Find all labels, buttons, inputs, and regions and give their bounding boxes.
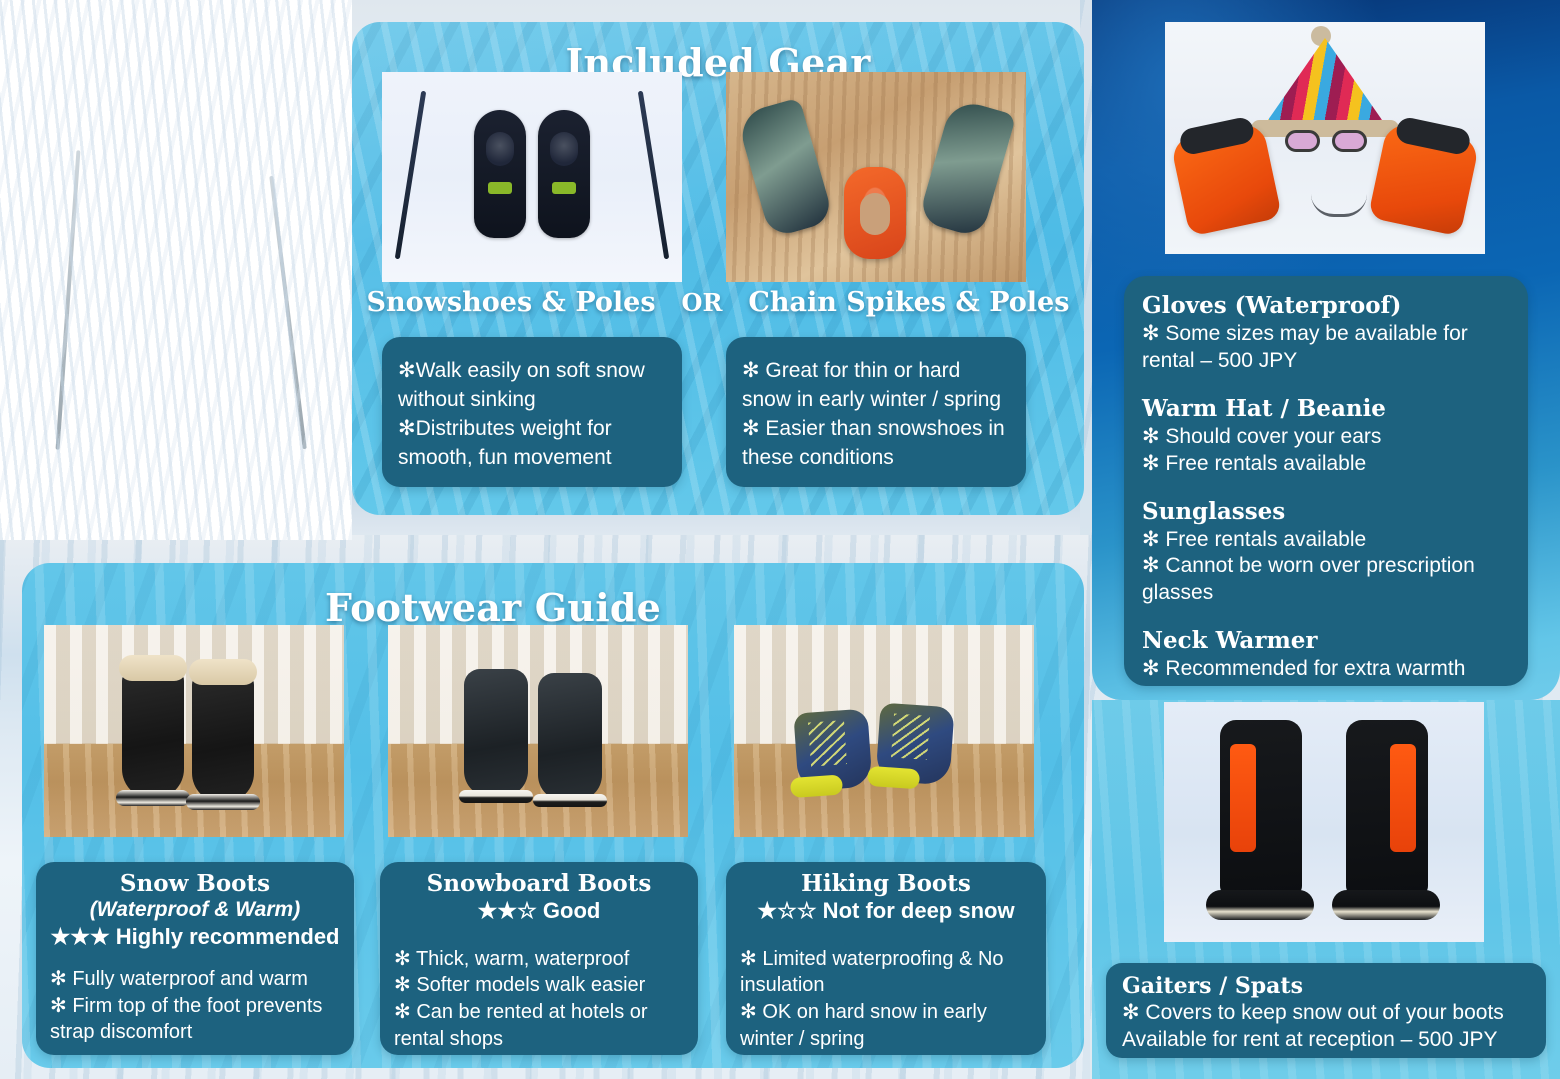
person-snowshoeing-photo	[0, 0, 352, 540]
sunglasses-heading: Sunglasses	[1142, 498, 1510, 525]
chain-spikes-and-boots-photo	[726, 72, 1026, 282]
hiking-boot-right	[875, 703, 954, 786]
or-label: OR	[682, 288, 723, 317]
trekking-pole	[269, 176, 306, 449]
gear-option-labels: Snowshoes & Poles OR Chain Spikes & Pole…	[352, 287, 1084, 318]
gloves-heading: Gloves (Waterproof)	[1142, 292, 1510, 319]
gaiters-heading: Gaiters / Spats	[1122, 973, 1530, 999]
hat-group: Warm Hat / Beanie ✻ Should cover your ea…	[1142, 395, 1510, 478]
snowshoes-label: Snowshoes & Poles	[367, 287, 656, 318]
neck-warmer-lines: ✻ Recommended for extra warmth	[1142, 656, 1510, 683]
sunglasses-shape	[1285, 130, 1367, 152]
neck-warmer-group: Neck Warmer ✻ Recommended for extra warm…	[1142, 627, 1510, 683]
snowshoes-and-poles-photo	[382, 72, 682, 282]
chain-spikes-info-card: ✻ Great for thin or hard snow in early w…	[726, 337, 1026, 487]
gaiter-leg-left	[1220, 720, 1302, 896]
gloves-lines: ✻ Some sizes may be available for rental…	[1142, 321, 1510, 375]
snowboard-boots-bullets: ✻ Thick, warm, waterproof ✻ Softer model…	[380, 926, 698, 1053]
sunglasses-lines: ✻ Free rentals available ✻ Cannot be wor…	[1142, 527, 1510, 608]
gaiters-info-card: Gaiters / Spats ✻ Covers to keep snow ou…	[1106, 963, 1546, 1058]
snowshoes-info-text: ✻Walk easily on soft snow without sinkin…	[382, 337, 682, 493]
snow-boots-bullets: ✻ Fully waterproof and warm ✻ Firm top o…	[36, 952, 354, 1046]
chain-spike-crampon	[844, 167, 906, 259]
hiking-boots-photo	[734, 625, 1034, 837]
snowboard-boot-left	[464, 669, 528, 797]
glove-left-shape	[1170, 121, 1282, 236]
snow-boot-left	[122, 667, 184, 799]
hiking-boots-bullets: ✻ Limited waterproofing & No insulation …	[726, 926, 1046, 1053]
snow-boot-right	[192, 671, 254, 803]
gaiters-on-boots-photo	[1164, 702, 1484, 942]
snow-boots-photo	[44, 625, 344, 837]
gloves-hat-sunglasses-photo	[1165, 22, 1485, 254]
snowboard-boot-right	[538, 673, 602, 801]
neck-warmer-heading: Neck Warmer	[1142, 627, 1510, 654]
gloves-group: Gloves (Waterproof) ✻ Some sizes may be …	[1142, 292, 1510, 375]
hiking-boots-card: Hiking Boots ★☆☆ Not for deep snow ✻ Lim…	[726, 862, 1046, 1055]
chain-spikes-label: Chain Spikes & Poles	[748, 287, 1069, 318]
infographic-poster: Included Gear Snowshoes & Poles OR Chain…	[0, 0, 1560, 1079]
hat-heading: Warm Hat / Beanie	[1142, 395, 1510, 422]
snow-boots-subtitle: (Waterproof & Warm)	[36, 897, 354, 923]
boot-left	[736, 97, 835, 238]
snowboard-boots-title: Snowboard Boots	[380, 862, 698, 897]
snowboard-boots-card: Snowboard Boots ★★☆ Good ✻ Thick, warm, …	[380, 862, 698, 1055]
hiking-boot-left	[793, 709, 872, 792]
pole-shape	[638, 91, 670, 260]
snowboard-boots-rating: ★★☆ Good	[380, 897, 698, 926]
snowshoes-info-card: ✻Walk easily on soft snow without sinkin…	[382, 337, 682, 487]
sunglasses-group: Sunglasses ✻ Free rentals available ✻ Ca…	[1142, 498, 1510, 608]
gaiters-lines: ✻ Covers to keep snow out of your boots …	[1122, 999, 1530, 1054]
glove-right-shape	[1368, 121, 1480, 236]
hiking-boots-rating: ★☆☆ Not for deep snow	[726, 897, 1046, 926]
chain-spikes-info-text: ✻ Great for thin or hard snow in early w…	[726, 337, 1026, 493]
footwear-guide-title: Footwear Guide	[0, 585, 1084, 630]
clothing-info-card: Gloves (Waterproof) ✻ Some sizes may be …	[1124, 276, 1528, 686]
hat-lines: ✻ Should cover your ears ✻ Free rentals …	[1142, 424, 1510, 478]
snow-boots-rating: ★★★ Highly recommended	[36, 923, 354, 952]
gaiter-leg-right	[1346, 720, 1428, 896]
snow-boots-card: Snow Boots (Waterproof & Warm) ★★★ Highl…	[36, 862, 354, 1055]
snowshoe-right	[538, 110, 590, 238]
trekking-pole	[56, 150, 81, 450]
boot-right	[918, 97, 1017, 238]
snowboard-boots-photo	[388, 625, 688, 837]
snow-boots-title: Snow Boots	[36, 862, 354, 897]
hiking-boots-title: Hiking Boots	[726, 862, 1046, 897]
striped-beanie-shape	[1261, 38, 1389, 130]
snowshoe-left	[474, 110, 526, 238]
pole-shape	[395, 91, 427, 260]
snow-smile-shape	[1311, 194, 1367, 217]
